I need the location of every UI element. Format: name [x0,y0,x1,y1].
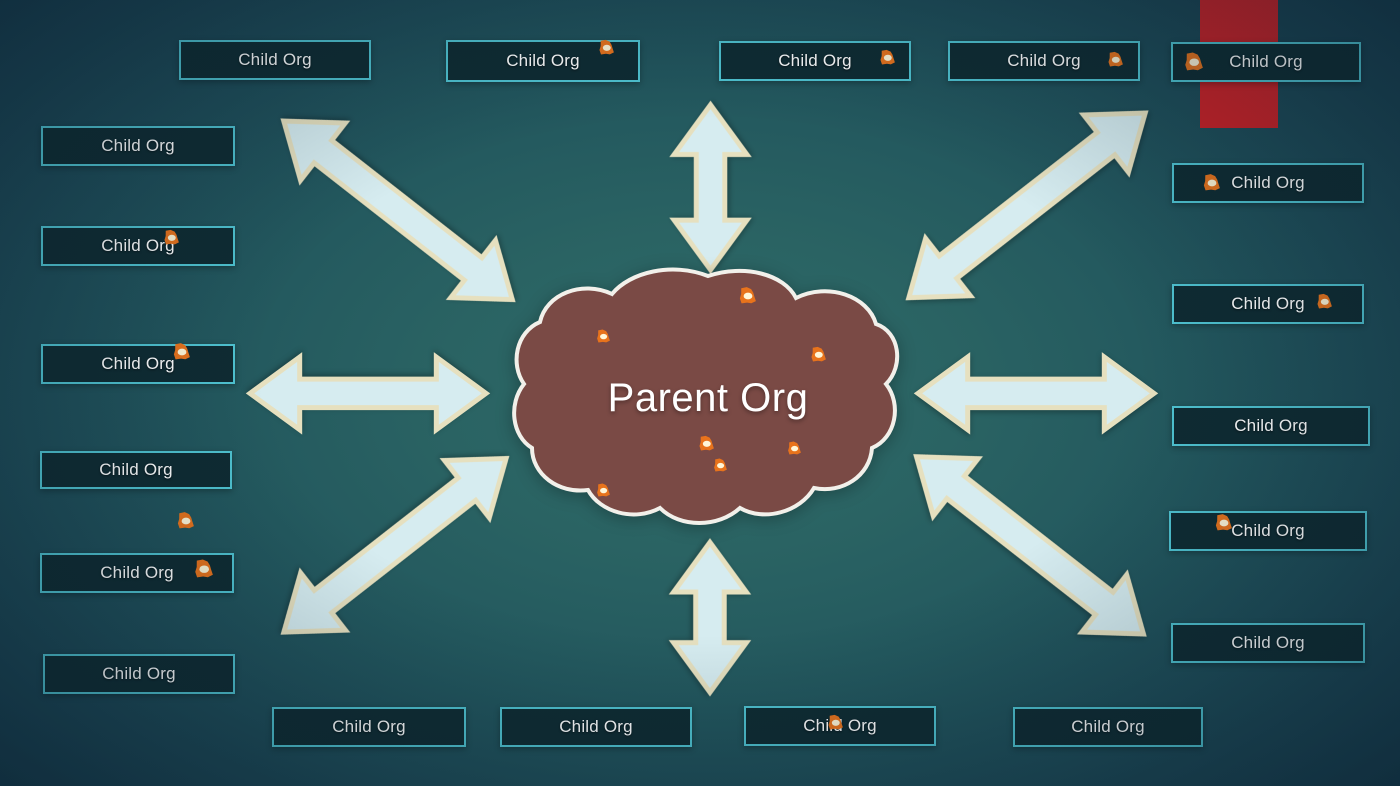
child-org-label: Child Org [332,717,406,737]
parent-org-cloud[interactable]: Parent Org [512,262,904,534]
child-org-label: Child Org [238,50,312,70]
child-org-box-top-4[interactable]: Child Org [948,41,1140,81]
child-org-box-bottom-2[interactable]: Child Org [500,707,692,747]
ember-spark-icon [174,509,198,533]
child-org-box-top-1[interactable]: Child Org [179,40,371,80]
child-org-box-left-2[interactable]: Child Org [41,226,235,266]
child-org-label: Child Org [99,460,173,480]
child-org-box-right-5[interactable]: Child Org [1171,623,1365,663]
child-org-box-right-2[interactable]: Child Org [1172,284,1364,324]
child-org-box-left-4[interactable]: Child Org [40,451,232,489]
child-org-box-left-5[interactable]: Child Org [40,553,234,593]
child-org-box-right-1[interactable]: Child Org [1172,163,1364,203]
child-org-label: Child Org [1071,717,1145,737]
child-org-box-left-1[interactable]: Child Org [41,126,235,166]
child-org-box-top-3[interactable]: Child Org [719,41,911,81]
diagram-canvas: Child OrgChild OrgChild OrgChild OrgChil… [0,0,1400,786]
child-org-label: Child Org [778,51,852,71]
double-arrow-upleft [261,92,534,328]
child-org-label: Child Org [506,51,580,71]
double-arrow-down [674,542,747,692]
child-org-box-bottom-4[interactable]: Child Org [1013,707,1203,747]
child-org-label: Child Org [101,136,175,156]
child-org-label: Child Org [1231,294,1305,314]
child-org-box-top-5[interactable]: Child Org [1171,42,1361,82]
parent-org-label: Parent Org [512,262,904,534]
child-org-box-top-2[interactable]: Child Org [446,40,640,82]
double-arrow-right [918,357,1154,430]
child-org-box-bottom-3[interactable]: Child Org [744,706,936,746]
child-org-label: Child Org [101,236,175,256]
child-org-label: Child Org [100,563,174,583]
child-org-box-left-6[interactable]: Child Org [43,654,235,694]
child-org-label: Child Org [1231,521,1305,541]
child-org-label: Child Org [1007,51,1081,71]
child-org-label: Child Org [1229,52,1303,72]
double-arrow-downright [894,428,1166,663]
child-org-label: Child Org [1234,416,1308,436]
child-org-label: Child Org [101,354,175,374]
child-org-box-right-4[interactable]: Child Org [1169,511,1367,551]
double-arrow-up [674,104,747,269]
child-org-box-right-3[interactable]: Child Org [1172,406,1370,446]
child-org-label: Child Org [1231,173,1305,193]
child-org-label: Child Org [102,664,176,684]
double-arrow-left [250,357,486,430]
child-org-box-bottom-1[interactable]: Child Org [272,707,466,747]
child-org-label: Child Org [1231,633,1305,653]
double-arrow-downleft [262,430,529,661]
child-org-label: Child Org [559,717,633,737]
double-arrow-upright [886,84,1167,326]
child-org-box-left-3[interactable]: Child Org [41,344,235,384]
child-org-label: Child Org [803,716,877,736]
